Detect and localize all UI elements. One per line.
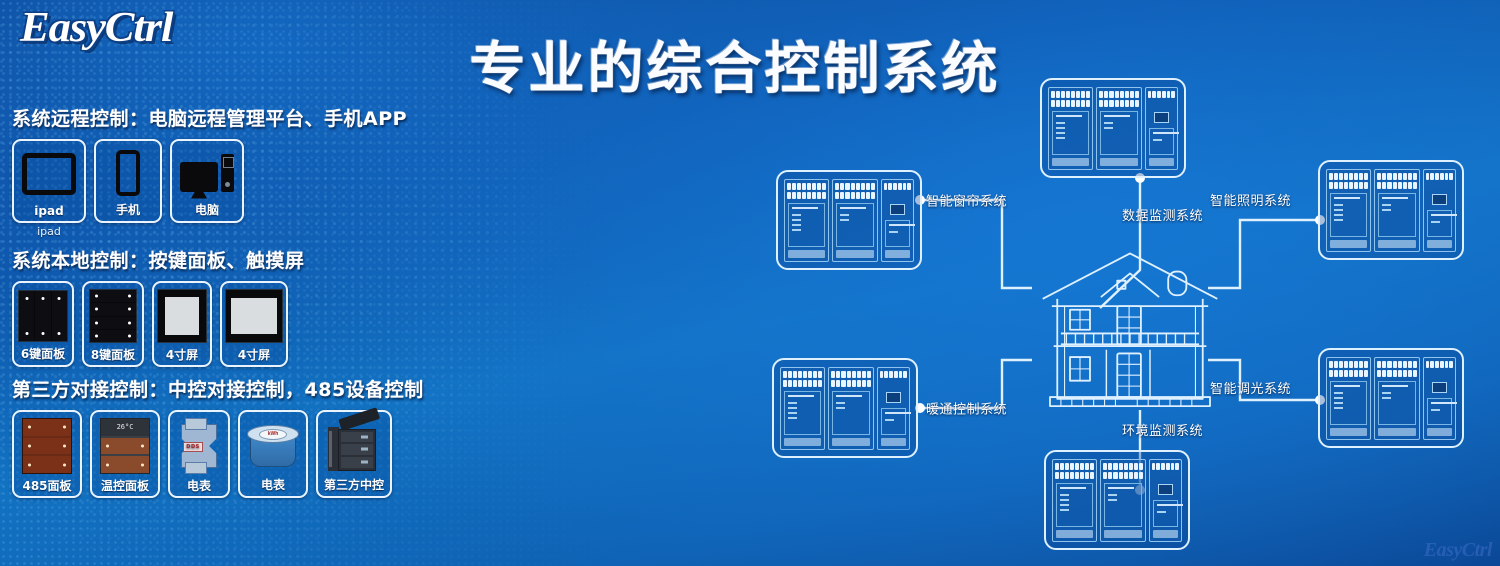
meter-reading-display: kWh [259, 429, 287, 440]
card-row-remote-control: ipad 手机 电脑 [0, 139, 430, 223]
eight-key-panel-icon [89, 289, 137, 343]
module-box-curtain[interactable] [776, 170, 922, 270]
device-card-label: 电脑 [195, 201, 219, 218]
thermostat-temperature-display: 26°C [101, 419, 149, 436]
panel-card-meter-din[interactable]: DDS 电表 [168, 410, 230, 498]
card-row-third-party: 485面板 26°C 温控面板 DDS 电表 kWh [0, 410, 430, 498]
card-row-local-control: 6键面板 8键面板 4寸屏 4寸屏 [0, 281, 430, 367]
smartphone-icon [116, 147, 140, 198]
section-heading-remote-control: 系统远程控制：电脑远程管理平台、手机APP [0, 104, 430, 131]
panel-card-label: 电表 [187, 477, 211, 494]
panel-card-label: 第三方中控 [324, 476, 384, 493]
module-box-lighting[interactable] [1318, 160, 1464, 260]
node-label-curtain: 智能窗帘系统 [920, 191, 1007, 210]
device-card-ipad[interactable]: ipad [12, 139, 86, 223]
module-box-data[interactable] [1040, 78, 1186, 178]
panel-card-meter-round[interactable]: kWh 电表 [238, 410, 308, 498]
house-illustration [1030, 245, 1230, 420]
node-label-lighting: 智能照明系统 [1210, 190, 1291, 209]
panel-card-6key[interactable]: 6键面板 [12, 281, 74, 367]
third-party-controller-icon [328, 418, 380, 473]
panel-card-485[interactable]: 485面板 [12, 410, 82, 498]
round-electric-meter-icon: kWh [247, 418, 299, 473]
six-key-panel-icon [18, 289, 68, 342]
panel-card-thermostat[interactable]: 26°C 温控面板 [90, 410, 160, 498]
rs485-panel-icon [22, 418, 72, 474]
left-panel: 系统远程控制：电脑远程管理平台、手机APP ipad 手机 电脑 ipad 系统… [0, 104, 430, 498]
section-heading-third-party: 第三方对接控制：中控对接控制，485设备控制 [0, 375, 430, 402]
panel-card-third-party-controller[interactable]: 第三方中控 [316, 410, 392, 498]
panel-card-screen-4inch-a[interactable]: 4寸屏 [152, 281, 212, 367]
ipad-subcaption: ipad [12, 225, 86, 238]
module-box-hvac[interactable] [772, 358, 918, 458]
node-label-hvac: 暖通控制系统 [920, 399, 1007, 418]
panel-card-8key[interactable]: 8键面板 [82, 281, 144, 367]
panel-card-label: 6键面板 [21, 345, 65, 362]
brand-logo: EasyCtrl [20, 4, 172, 52]
four-inch-screen-icon [157, 289, 207, 343]
panel-card-label: 8键面板 [91, 346, 135, 363]
device-card-label: 手机 [116, 201, 140, 218]
thermostat-panel-icon: 26°C [100, 418, 150, 474]
panel-card-screen-4inch-b[interactable]: 4寸屏 [220, 281, 288, 367]
tablet-icon [22, 147, 76, 201]
node-label-data: 数据监测系统 [1122, 205, 1203, 224]
watermark: EasyCtrl [1424, 539, 1492, 562]
device-card-label: ipad [34, 204, 63, 218]
desktop-computer-icon [180, 147, 234, 198]
device-card-phone[interactable]: 手机 [94, 139, 162, 223]
device-card-computer[interactable]: 电脑 [170, 139, 244, 223]
module-box-environment[interactable] [1044, 450, 1190, 550]
section-heading-local-control: 系统本地控制：按键面板、触摸屏 [0, 246, 430, 273]
node-label-dimming: 智能调光系统 [1210, 378, 1291, 397]
system-topology-diagram: 智能窗帘系统 数据监测系统 智能照明系统 暖通控制系统 环境监测系统 智能调光系… [740, 60, 1500, 566]
four-inch-screen-wide-icon [225, 289, 283, 343]
node-label-environment: 环境监测系统 [1122, 420, 1203, 439]
panel-card-label: 温控面板 [101, 477, 149, 494]
electric-meter-icon: DDS [177, 418, 221, 474]
panel-card-label: 485面板 [22, 477, 71, 494]
module-box-dimming[interactable] [1318, 348, 1464, 448]
panel-card-label: 4寸屏 [238, 346, 270, 363]
panel-card-label: 4寸屏 [166, 346, 198, 363]
panel-card-label: 电表 [261, 476, 285, 493]
